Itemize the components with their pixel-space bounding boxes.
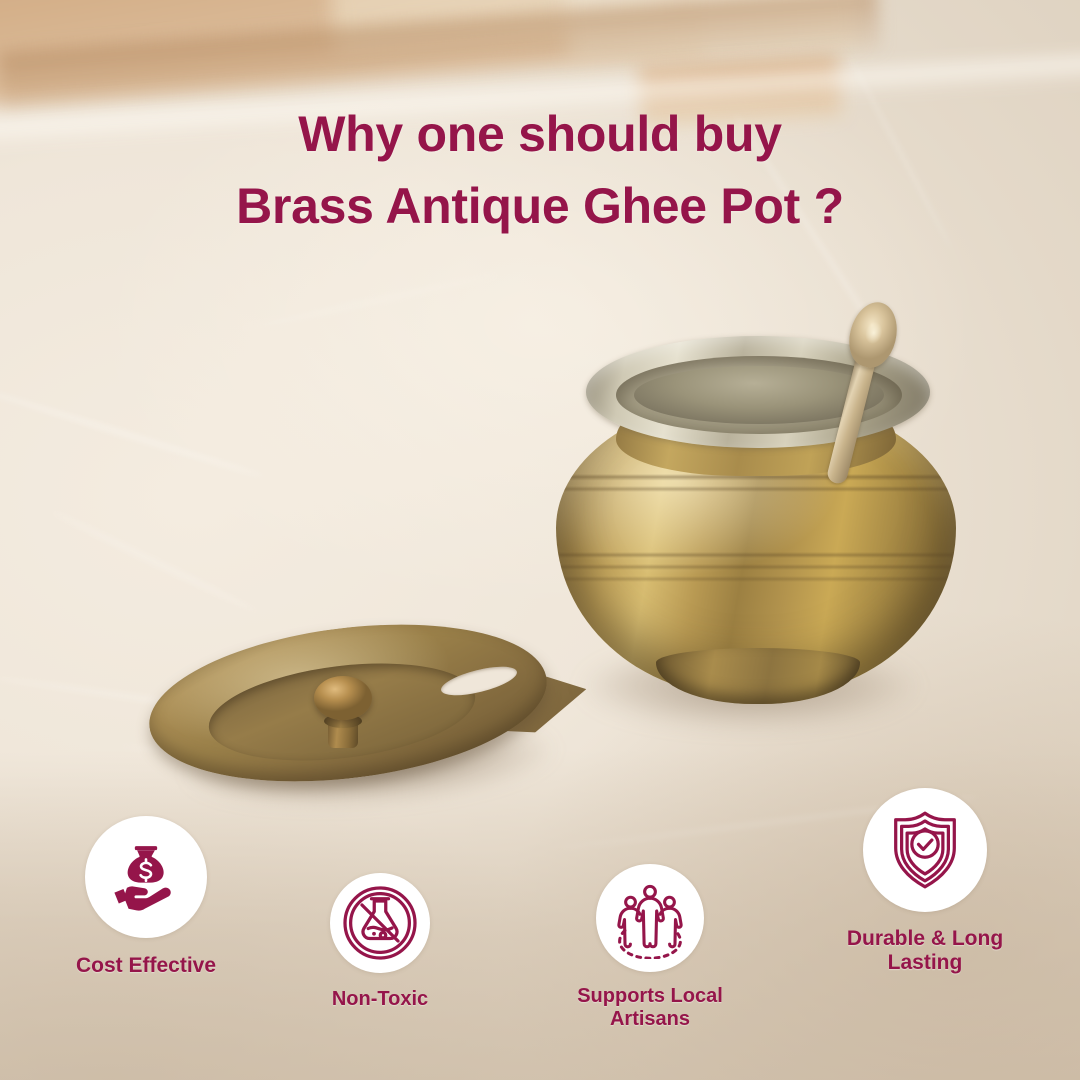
shield-check-icon	[882, 807, 968, 893]
badge-circle	[596, 864, 704, 972]
page-title-line-2: Brass Antique Ghee Pot ?	[0, 170, 1080, 242]
badge-label: Durable & Long Lasting	[790, 927, 1060, 975]
spoon-bowl-end	[843, 297, 904, 372]
badge-label: Supports Local Artisans	[545, 985, 755, 1031]
lid-knob	[314, 676, 372, 720]
artisan-community-people-icon	[609, 877, 691, 959]
badge-circle	[330, 873, 430, 973]
promo-canvas: Why one should buy Brass Antique Ghee Po…	[0, 0, 1080, 1080]
badge-label: Non-Toxic	[275, 988, 485, 1011]
money-bag-in-hand-icon	[108, 839, 184, 915]
page-title-line-1: Why one should buy	[298, 106, 781, 162]
feature-badge-durable-long-lasting[interactable]: Durable & Long Lasting	[790, 788, 1060, 975]
feature-badge-cost-effective[interactable]: Cost Effective	[18, 816, 274, 978]
brass-pot-lid	[140, 618, 580, 818]
feature-badge-supports-local-artisans[interactable]: Supports Local Artisans	[545, 864, 755, 1031]
feature-badge-non-toxic[interactable]: Non-Toxic	[275, 873, 485, 1011]
no-toxic-flask-icon	[340, 883, 420, 963]
badge-circle	[863, 788, 987, 912]
brass-ghee-pot	[528, 300, 988, 740]
page-title: Why one should buy Brass Antique Ghee Po…	[0, 98, 1080, 242]
badge-circle	[85, 816, 207, 938]
badge-label: Cost Effective	[18, 954, 274, 978]
